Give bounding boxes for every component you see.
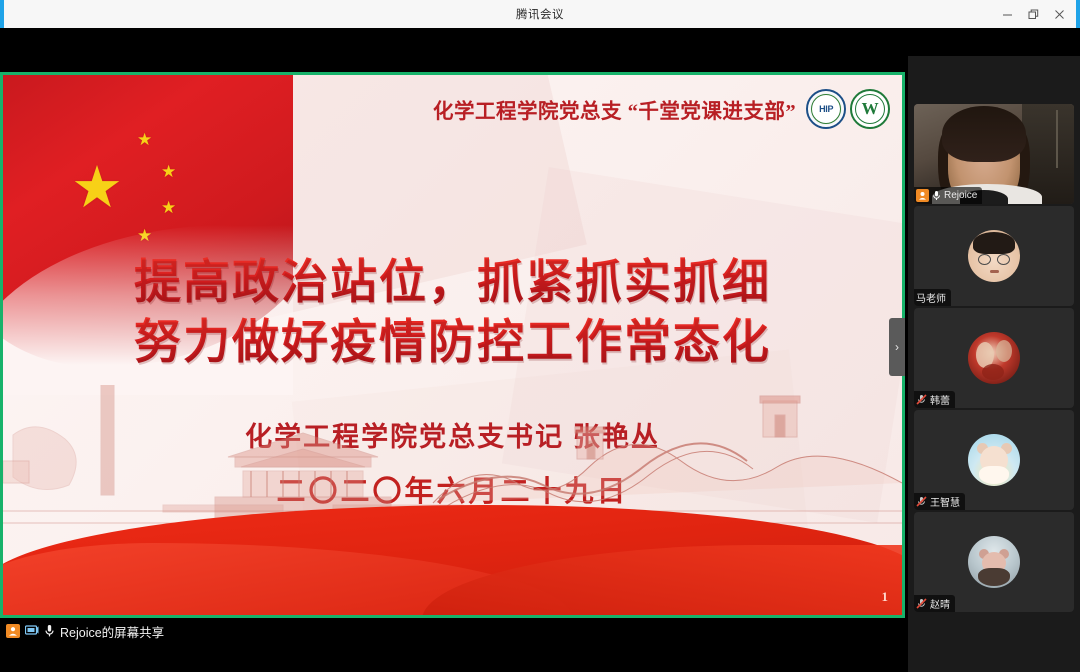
- participant-name: 韩蕾: [930, 392, 950, 407]
- participant-name: 马老师: [916, 290, 946, 305]
- slide-header-text: 化学工程学院党总支 “千堂党课进支部”: [433, 94, 796, 124]
- participant-namebar: 王智慧: [914, 493, 965, 510]
- participant-tile[interactable]: 王智慧: [914, 410, 1074, 510]
- mic-muted-icon: [916, 394, 927, 405]
- flag-star-small: ★: [161, 199, 176, 216]
- titlebar-accent-left: [0, 0, 4, 28]
- shared-screen-region[interactable]: ★ ★ ★ ★ ★ 化学工程学院党总支 “千堂党课进支部” HIP W: [0, 72, 905, 618]
- mic-muted-icon: [916, 496, 927, 507]
- hip-logo-icon: HIP: [806, 89, 846, 129]
- titlebar-accent-right: [1076, 0, 1080, 28]
- participant-namebar: Rejoice: [914, 187, 982, 204]
- flag-star-small: ★: [137, 131, 152, 148]
- slide-title-block: 提高政治站位，抓紧抓实抓细 努力做好疫情防控工作常态化: [3, 253, 902, 373]
- meeting-stage: ★ ★ ★ ★ ★ 化学工程学院党总支 “千堂党课进支部” HIP W: [0, 28, 1080, 644]
- window-controls: [994, 0, 1072, 28]
- participant-avatar: [968, 332, 1020, 384]
- restore-icon[interactable]: [1020, 0, 1046, 28]
- participant-namebar: 马老师: [914, 289, 951, 306]
- participant-avatar: [968, 536, 1020, 588]
- screen-share-label: Rejoice的屏幕共享: [60, 622, 164, 641]
- screen-share-icon: [25, 625, 39, 637]
- presentation-slide: ★ ★ ★ ★ ★ 化学工程学院党总支 “千堂党课进支部” HIP W: [3, 75, 902, 615]
- slide-header: 化学工程学院党总支 “千堂党课进支部” HIP W: [433, 89, 853, 129]
- participant-tile[interactable]: 马老师: [914, 206, 1074, 306]
- flag-star-large: ★: [71, 159, 123, 217]
- slide-title-line-2: 努力做好疫情防控工作常态化: [3, 313, 902, 373]
- participant-namebar: 赵晴: [914, 595, 955, 612]
- university-logo-icon: W: [850, 89, 890, 129]
- mic-on-icon: [932, 190, 941, 201]
- participant-hair: [942, 106, 1026, 162]
- participant-tile[interactable]: Rejoice: [914, 104, 1074, 204]
- screen-share-statusbar: Rejoice的屏幕共享: [0, 618, 908, 644]
- participant-name: 王智慧: [930, 494, 960, 509]
- participant-filmstrip[interactable]: Rejoice 马老师 韩蕾: [908, 56, 1080, 672]
- participant-avatar: [968, 230, 1020, 282]
- mic-muted-icon: [916, 598, 927, 609]
- participant-avatar: [968, 434, 1020, 486]
- host-badge-icon: [6, 624, 20, 638]
- flag-star-small: ★: [161, 163, 176, 180]
- chevron-right-icon[interactable]: ›: [889, 318, 905, 376]
- host-badge-icon: [916, 189, 929, 202]
- mic-icon: [44, 624, 55, 638]
- slide-architecture-illustration: [3, 385, 902, 615]
- window-titlebar: 腾讯会议: [0, 0, 1080, 28]
- window-title: 腾讯会议: [516, 6, 564, 22]
- participant-name: 赵晴: [930, 596, 950, 611]
- slide-page-number: 1: [882, 589, 889, 605]
- close-icon[interactable]: [1046, 0, 1072, 28]
- participant-name: Rejoice: [944, 190, 977, 201]
- participant-namebar: 韩蕾: [914, 391, 955, 408]
- participant-tile[interactable]: 赵晴: [914, 512, 1074, 612]
- participant-tile[interactable]: 韩蕾: [914, 308, 1074, 408]
- slide-logos: HIP W: [806, 89, 890, 129]
- slide-title-line-1: 提高政治站位，抓紧抓实抓细: [3, 253, 902, 313]
- minimize-icon[interactable]: [994, 0, 1020, 28]
